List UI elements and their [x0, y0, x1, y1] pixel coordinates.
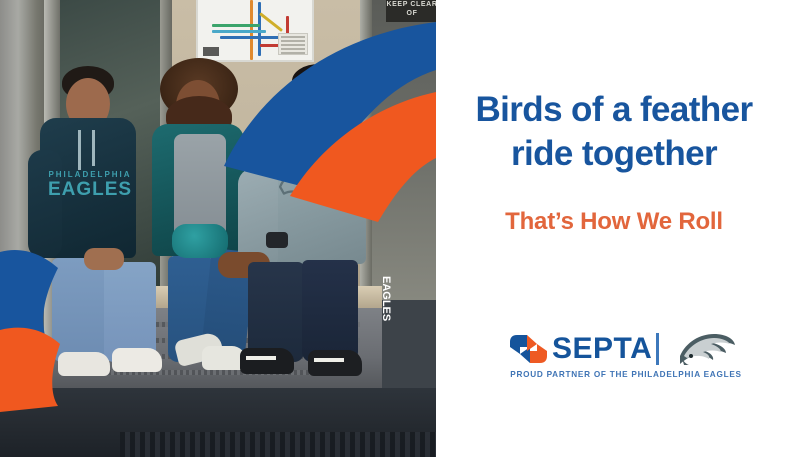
headline-line-2: ride together — [442, 132, 786, 176]
passenger-left-arm — [28, 150, 62, 258]
train-floor-grate — [120, 432, 436, 457]
partnership-logo-lockup: SEPTA PROUD PARTNER OF THE PHILADELPHIA … — [506, 330, 746, 388]
hoodie-drawstring — [78, 130, 81, 170]
wristwatch — [266, 232, 288, 248]
septa-s-arrows-icon — [510, 334, 548, 364]
train-wall-right — [368, 0, 436, 300]
passenger-center-bag — [172, 224, 228, 258]
keep-clear-line-2: OF — [386, 9, 436, 18]
passenger-right-shoe — [240, 348, 294, 374]
eagles-crest-icon — [276, 160, 334, 206]
passenger-left-shoe — [58, 352, 110, 376]
logo-divider — [656, 333, 659, 365]
hoodie-text-eagles: EAGLES — [44, 180, 136, 200]
septa-system-map-poster — [196, 0, 314, 62]
passenger-right-leg — [248, 262, 304, 362]
hoodie-text-philadelphia: PHILADELPHIA — [44, 170, 136, 179]
septa-wordmark: SEPTA — [552, 332, 652, 366]
keep-clear-line-1: KEEP CLEAR — [386, 0, 436, 9]
passenger-left-leg — [104, 262, 156, 362]
partner-tagline: PROUD PARTNER OF THE PHILADELPHIA EAGLES — [506, 370, 746, 379]
headline-line-1: Birds of a feather — [442, 88, 786, 132]
hoodie-drawstring — [92, 130, 95, 166]
tee-text-eagles: EAGLES — [378, 276, 392, 321]
headline: Birds of a feather ride together — [442, 88, 786, 176]
passenger-left-hands — [84, 248, 124, 270]
passenger-right-leg — [302, 260, 358, 362]
septa-eagles-advertisement: KEEP CLEAR OF PHILADELPHIA EAGLES — [0, 0, 792, 457]
tagline: That’s How We Roll — [442, 208, 786, 236]
eagles-wing-icon — [674, 332, 736, 366]
passenger-right-shoe — [308, 350, 362, 376]
passenger-left-leg — [52, 258, 106, 362]
poster-legend-block — [203, 47, 219, 56]
ad-copy-panel: Birds of a feather ride together That’s … — [436, 0, 792, 457]
poster-info-box — [278, 33, 308, 55]
keep-clear-sign: KEEP CLEAR OF — [386, 0, 436, 22]
train-interior-photo: KEEP CLEAR OF PHILADELPHIA EAGLES — [0, 0, 436, 457]
passenger-left-shoe — [112, 348, 162, 372]
